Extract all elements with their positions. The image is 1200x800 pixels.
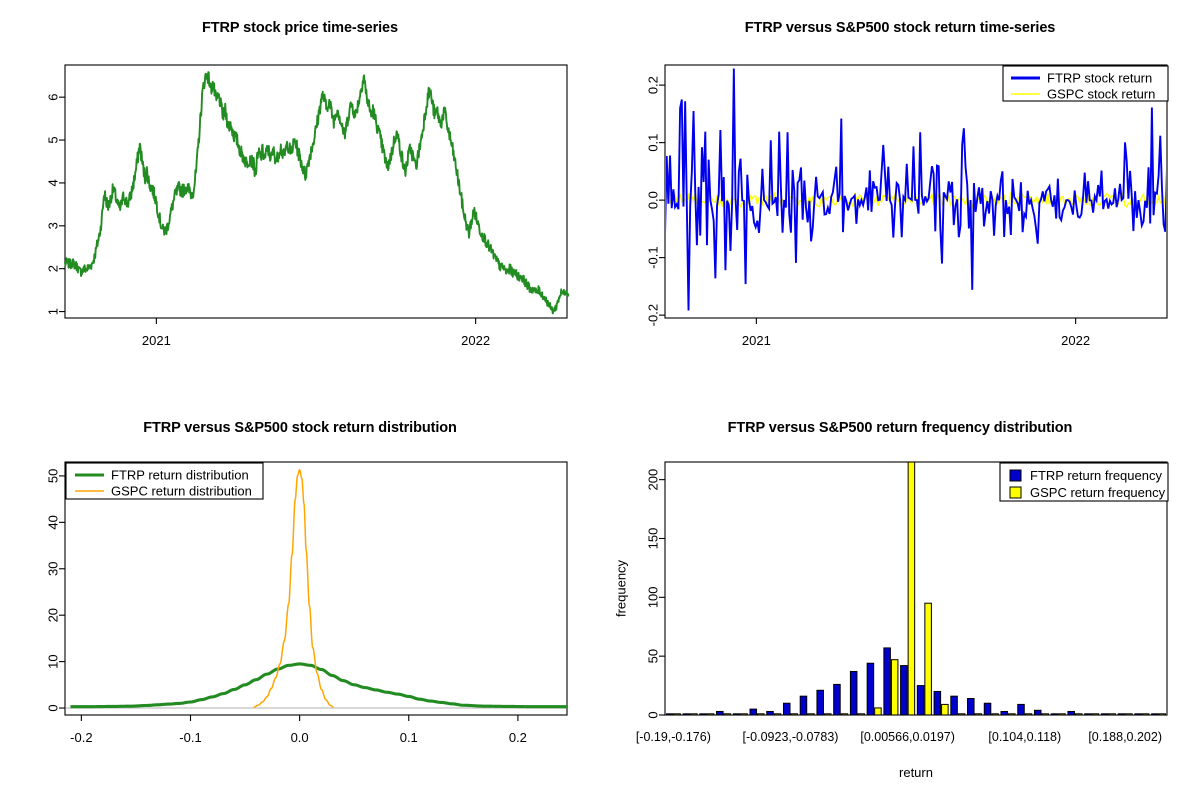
bar-ftrp-16 <box>934 691 941 715</box>
ftrp-return-line <box>665 68 1167 310</box>
bar-gspc-12 <box>875 708 882 715</box>
bar-gspc-15 <box>925 603 932 715</box>
y-tick-label-density: 0 <box>45 704 60 711</box>
y-tick-label-density: 50 <box>45 469 60 483</box>
x-tick-label-frequency-4: [0.188,0.202) <box>1088 730 1162 744</box>
return-timeseries-chart-svg: -0.2-0.10.00.10.220212022FTRP stock retu… <box>600 0 1200 400</box>
y-tick-label-frequency: 0 <box>645 711 660 718</box>
y-tick-label-frequency: 50 <box>645 649 660 663</box>
return-series-group <box>665 68 1167 310</box>
bar-ftrp-14 <box>901 666 908 715</box>
x-tick-label-density: 0.2 <box>509 730 527 745</box>
x-tick-label-density: 0.0 <box>291 730 309 745</box>
bar-ftrp-21 <box>1018 704 1025 715</box>
y-tick-label-price: 1 <box>45 308 60 315</box>
figure-canvas: FTRP stock price time-series 12345620212… <box>0 0 1200 800</box>
y-axis-title-frequency: frequency <box>613 559 628 617</box>
y-tick-label-frequency: 200 <box>645 469 660 491</box>
legend-square-swatch-0 <box>1010 470 1021 481</box>
y-tick-label-return: -0.1 <box>645 246 660 268</box>
y-tick-label-return: 0.1 <box>645 134 660 152</box>
x-tick-label-density: 0.1 <box>400 730 418 745</box>
x-tick-label-frequency-2: [0.00566,0.0197) <box>860 730 955 744</box>
x-tick-label-density: -0.2 <box>70 730 92 745</box>
bar-ftrp-5 <box>750 709 757 715</box>
bar-ftrp-19 <box>984 703 991 715</box>
return-plot-frame <box>665 65 1167 318</box>
panel-title-return-frequency: FTRP versus S&P500 return frequency dist… <box>600 420 1200 436</box>
panel-title-ftrp-price: FTRP stock price time-series <box>0 20 600 36</box>
bar-ftrp-15 <box>917 686 924 715</box>
y-tick-label-price: 4 <box>45 179 60 186</box>
x-tick-label-frequency-1: [-0.0923,-0.0783) <box>743 730 839 744</box>
legend-return-frequency[interactable]: FTRP return frequencyGSPC return frequen… <box>1000 463 1168 501</box>
ftrp-price-chart-svg: 12345620212022 <box>0 0 600 400</box>
bar-ftrp-12 <box>867 663 874 715</box>
y-tick-label-density: 20 <box>45 608 60 622</box>
x-axis-title-return: return <box>899 765 933 780</box>
bar-gspc-14 <box>908 462 915 715</box>
x-tick-label-density: -0.1 <box>179 730 201 745</box>
bar-ftrp-9 <box>817 690 824 715</box>
x-tick-label-frequency-0: [-0.19,-0.176) <box>636 730 711 744</box>
density-curve-ftrp <box>70 664 567 707</box>
panel-title-return-distribution: FTRP versus S&P500 stock return distribu… <box>0 420 600 436</box>
ftrp-price-line <box>65 72 568 313</box>
x-tick-label-price: 2022 <box>461 333 490 348</box>
panel-return-frequency: FTRP versus S&P500 return frequency dist… <box>600 400 1200 800</box>
bar-gspc-13 <box>891 660 898 715</box>
y-tick-label-price: 6 <box>45 94 60 101</box>
panel-ftrp-price-timeseries: FTRP stock price time-series 12345620212… <box>0 0 600 400</box>
legend-return-distribution[interactable]: FTRP return distributionGSPC return dist… <box>66 463 263 499</box>
x-tick-label-return: 2021 <box>742 333 771 348</box>
y-tick-label-frequency: 100 <box>645 586 660 608</box>
bar-ftrp-10 <box>834 684 841 715</box>
y-tick-label-density: 40 <box>45 515 60 529</box>
price-plot-frame <box>65 65 567 318</box>
density-plot-frame <box>65 462 567 715</box>
return-frequency-chart-svg: 050100150200frequency[-0.19,-0.176)[-0.0… <box>600 400 1200 800</box>
legend-label-0: FTRP stock return <box>1047 71 1152 86</box>
x-tick-label-return: 2022 <box>1061 333 1090 348</box>
legend-label-0: FTRP return distribution <box>111 468 249 483</box>
bar-ftrp-18 <box>968 699 975 715</box>
y-tick-label-price: 5 <box>45 136 60 143</box>
legend-label-1: GSPC return frequency <box>1030 485 1166 500</box>
panel-return-distribution: FTRP versus S&P500 stock return distribu… <box>0 400 600 800</box>
legend-label-0: FTRP return frequency <box>1030 468 1162 483</box>
y-tick-label-density: 30 <box>45 562 60 576</box>
bar-ftrp-11 <box>850 671 857 715</box>
bar-ftrp-17 <box>951 696 958 715</box>
bar-ftrp-7 <box>783 703 790 715</box>
return-distribution-chart-svg: 01020304050-0.2-0.10.00.10.2FTRP return … <box>0 400 600 800</box>
legend-return-timeseries[interactable]: FTRP stock returnGSPC stock return <box>1003 66 1168 102</box>
x-tick-label-price: 2021 <box>142 333 171 348</box>
y-tick-label-price: 3 <box>45 222 60 229</box>
y-tick-label-return: 0.2 <box>645 76 660 94</box>
legend-label-1: GSPC return distribution <box>111 484 252 499</box>
panel-title-return-timeseries: FTRP versus S&P500 stock return time-ser… <box>600 20 1200 36</box>
x-tick-label-frequency-3: [0.104,0.118) <box>988 730 1061 744</box>
legend-label-1: GSPC stock return <box>1047 87 1155 102</box>
bar-ftrp-8 <box>800 696 807 715</box>
bar-ftrp-13 <box>884 648 891 715</box>
bar-gspc-16 <box>942 704 949 715</box>
y-tick-label-return: 0.0 <box>645 191 660 209</box>
y-tick-label-frequency: 150 <box>645 528 660 550</box>
panel-ftrp-gspc-return-timeseries: FTRP versus S&P500 stock return time-ser… <box>600 0 1200 400</box>
y-tick-label-return: -0.2 <box>645 304 660 326</box>
legend-square-swatch-1 <box>1010 487 1021 498</box>
y-tick-label-price: 2 <box>45 265 60 272</box>
y-tick-label-density: 10 <box>45 654 60 668</box>
density-curve-gspc <box>254 470 334 707</box>
bar-ftrp-22 <box>1034 710 1041 715</box>
